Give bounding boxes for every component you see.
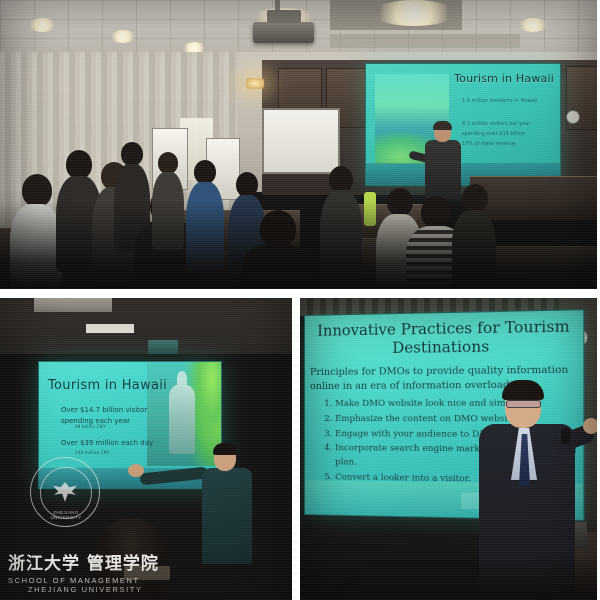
- zju-watermark: ZHEJIANG UNIVERSITY 浙江大学 管理学院 SCHOOL OF …: [8, 549, 158, 594]
- ceiling-light: [86, 324, 134, 333]
- speaker-torso: [202, 468, 252, 564]
- slide-bullet: spending over $14 billion: [462, 130, 558, 140]
- student-head: [66, 150, 92, 179]
- slide-bullet: 1.4 million residents in Hawaii: [462, 97, 558, 107]
- panel-speaker-hawaii-slide: Tourism in Hawaii Over $14.7 billion vis…: [0, 298, 292, 600]
- panel-speaker-innovative-practices: Innovative Practices for Tourism Destina…: [300, 298, 597, 600]
- foreground-shadow: [300, 554, 597, 600]
- foreground-shadow: [0, 199, 597, 289]
- slide-bullet-2-sub: 244 million CNY: [75, 450, 110, 455]
- zju-english-line2: ZHEJIANG UNIVERSITY: [28, 585, 158, 594]
- slide-title: Tourism in Hawaii: [454, 72, 554, 85]
- slide-bullet: 8.3 million visitors per year: [462, 120, 558, 130]
- ceiling-light: [28, 18, 56, 32]
- slide-title: Tourism in Hawaii: [48, 378, 167, 393]
- panel-classroom-wide-shot: Tourism in Hawaii 1.4 million residents …: [0, 0, 597, 289]
- ceiling-light: [34, 298, 112, 312]
- zju-chinese-name: 浙江大学 管理学院: [8, 549, 158, 574]
- eyeglasses-icon: [506, 400, 541, 408]
- whiteboard: [262, 108, 340, 174]
- presentation-clicker: [561, 428, 570, 444]
- presenter-hand: [583, 418, 597, 434]
- speaker-hair: [433, 121, 452, 130]
- ceiling-light: [372, 0, 456, 26]
- speaker-hair: [213, 443, 237, 455]
- student-head: [194, 160, 216, 184]
- ceiling-projector: [253, 22, 314, 43]
- guest-speaker-pointing: [190, 446, 254, 564]
- student-head: [236, 172, 258, 197]
- zju-seal-icon: ZHEJIANG UNIVERSITY: [30, 457, 100, 527]
- photo-collage: Tourism in Hawaii 1.4 million residents …: [0, 0, 600, 600]
- student-head: [329, 166, 353, 193]
- projection-screen-top: Tourism in Hawaii 1.4 million residents …: [365, 63, 561, 186]
- speaker-hand: [128, 464, 144, 477]
- ceiling-light: [110, 30, 136, 43]
- eagle-emblem-icon: [53, 482, 77, 502]
- slide-bullet: 17% of state revenue: [462, 140, 558, 150]
- zju-seal-text: ZHEJIANG UNIVERSITY: [42, 510, 90, 520]
- slide-bullet-1-sub: 98 billion CNY: [75, 424, 106, 429]
- slide-bullet-2: Over $39 million each day: [61, 438, 175, 449]
- ceiling-beam: [330, 34, 520, 48]
- wall-sconce: [246, 78, 264, 89]
- presenter-hair: [502, 380, 544, 400]
- slide-title: Innovative Practices for Tourism Destina…: [305, 319, 583, 360]
- student-head: [121, 142, 143, 166]
- zju-english-line1: SCHOOL OF MANAGEMENT: [8, 576, 158, 585]
- student-head: [158, 152, 178, 174]
- ceiling-projector: [148, 340, 178, 354]
- wall-clock: [566, 110, 580, 124]
- ceiling-light: [518, 18, 548, 32]
